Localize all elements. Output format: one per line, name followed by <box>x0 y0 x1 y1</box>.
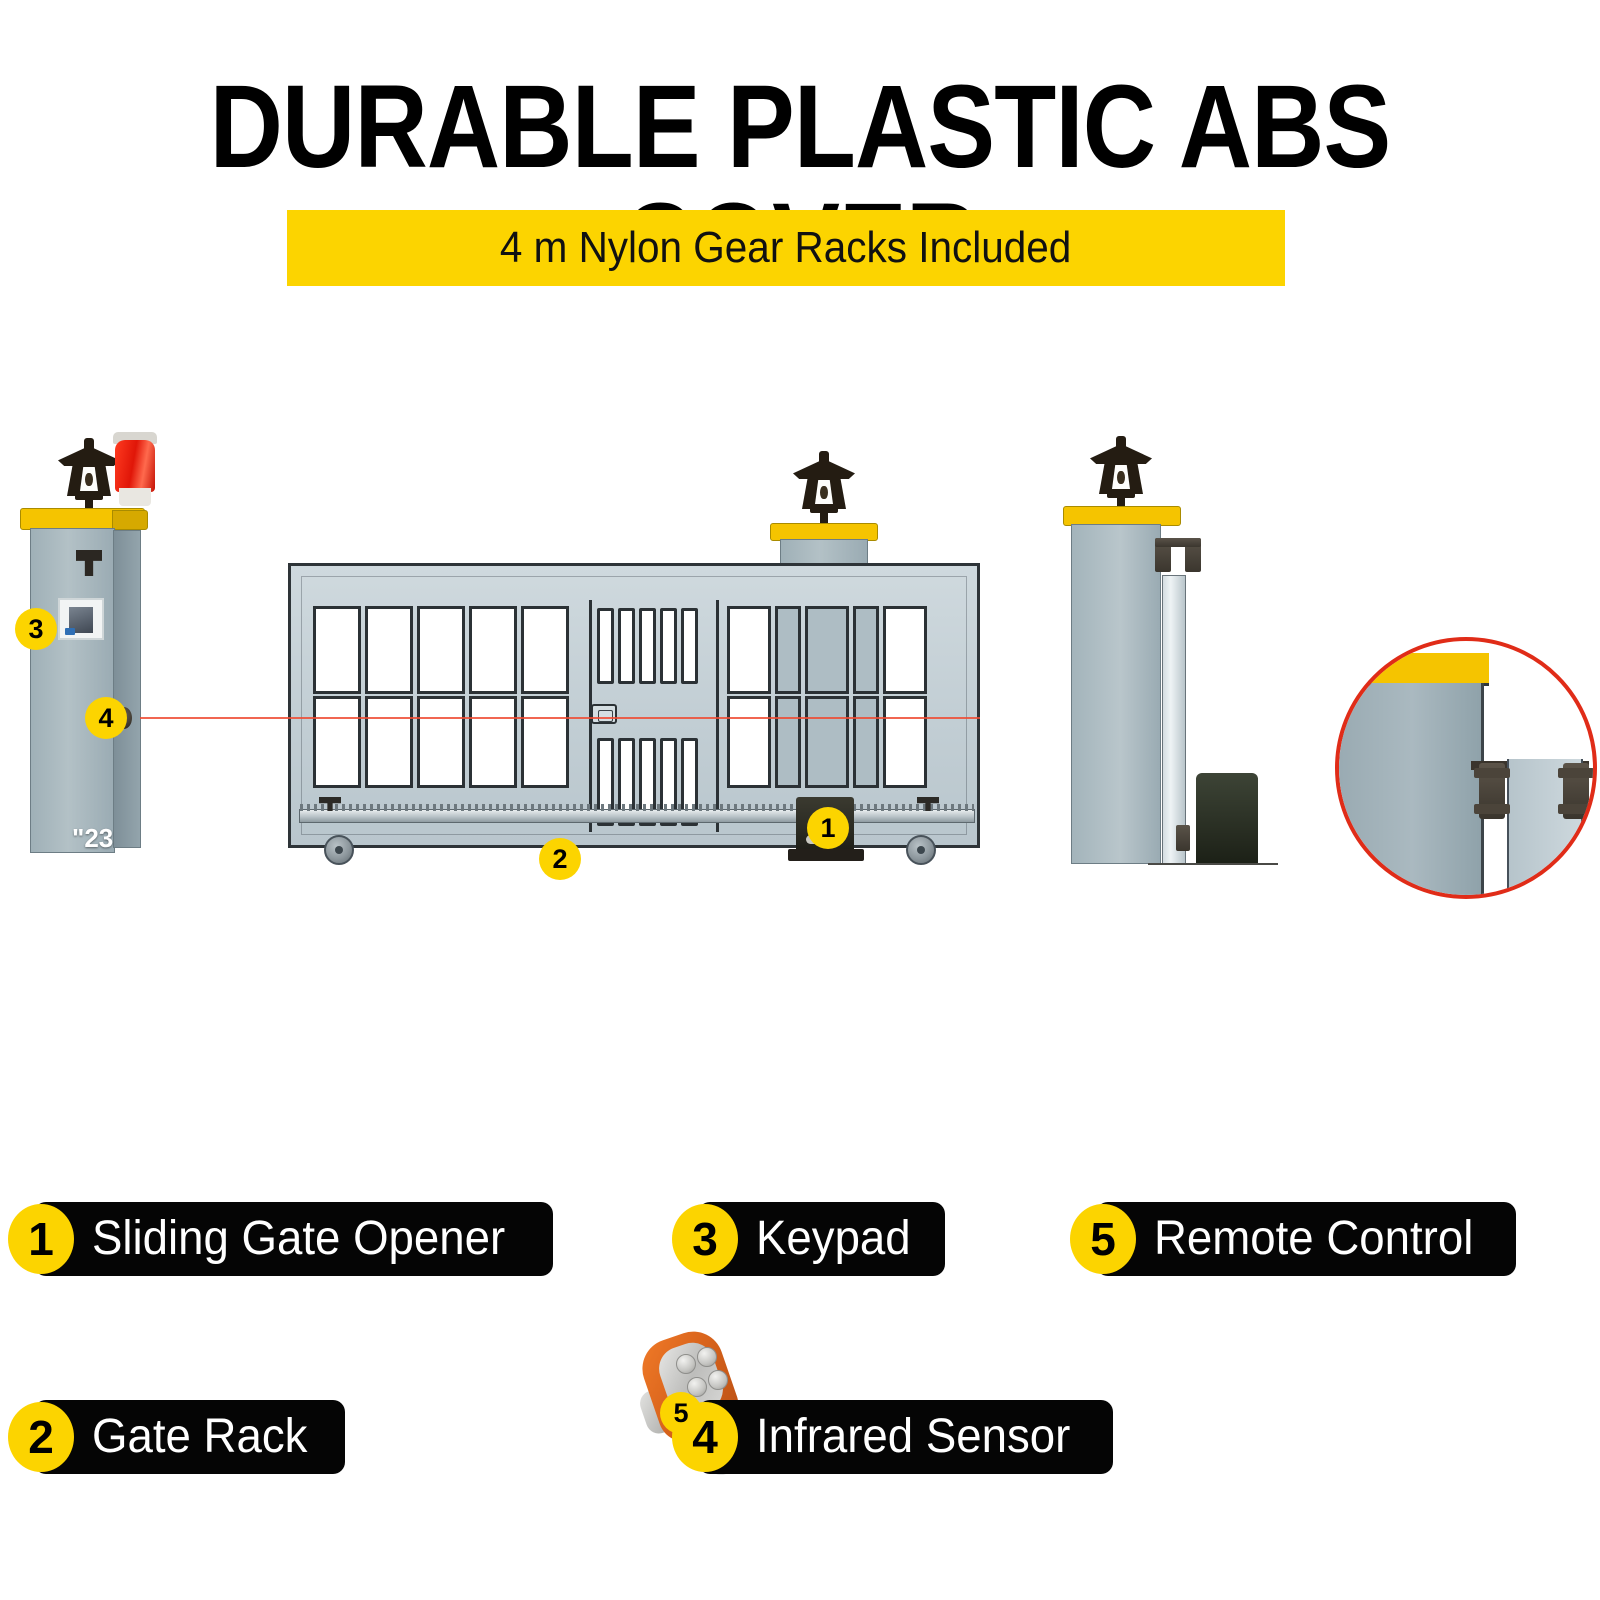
product-illustration: "23 3 4 <box>0 410 1600 1090</box>
callout-badge-2[interactable]: 2 <box>539 838 581 880</box>
legend-number-2: 2 <box>8 1402 74 1472</box>
gate-wheel <box>906 835 936 865</box>
legend: Sliding Gate Opener 1 Keypad 3 Remote Co… <box>0 1180 1600 1510</box>
left-pillar-cap-edge <box>112 510 148 530</box>
left-pillar-body <box>30 528 115 853</box>
callout-badge-5[interactable]: 5 <box>660 1392 702 1434</box>
callout-badge-1[interactable]: 1 <box>807 807 849 849</box>
gate-wheel <box>324 835 354 865</box>
legend-pill-2: Gate Rack <box>34 1400 345 1474</box>
post-bracket-rail <box>1155 538 1201 547</box>
gate-pane <box>365 696 413 788</box>
pillar-measurement-label: "23 <box>72 823 113 854</box>
red-beacon-light-icon <box>113 432 157 510</box>
legend-number-5: 5 <box>1070 1204 1136 1274</box>
legend-label-2: Gate Rack <box>92 1413 307 1461</box>
gate-column-lamp-icon-shape <box>793 443 855 525</box>
gate-pane <box>417 696 465 788</box>
post-bracket-bottom <box>1176 825 1190 851</box>
detail-inset-circle <box>1335 637 1597 899</box>
legend-number-3: 3 <box>672 1204 738 1274</box>
gate-pane <box>883 696 927 788</box>
opener-base <box>788 849 864 861</box>
detail-pillar <box>1335 683 1484 899</box>
legend-label-5: Remote Control <box>1154 1215 1473 1263</box>
gate-pane <box>521 696 569 788</box>
lamp-icon <box>58 430 120 512</box>
sliding-gate-group: 1 2 <box>288 535 980 875</box>
right-pillar-cap <box>1063 506 1181 526</box>
gate-pane <box>313 696 361 788</box>
legend-pill-1: Sliding Gate Opener <box>34 1202 553 1276</box>
keypad[interactable] <box>58 598 104 640</box>
gate-pane <box>313 606 361 694</box>
gate-slat <box>597 608 614 684</box>
legend-label-1: Sliding Gate Opener <box>92 1215 505 1263</box>
callout-badge-3[interactable]: 3 <box>15 608 57 650</box>
gate-pane <box>775 696 801 788</box>
legend-label-4: Infrared Sensor <box>756 1413 1070 1461</box>
gate-slat <box>618 608 635 684</box>
gate-rack-teeth <box>300 804 974 811</box>
gate-pane <box>775 606 801 694</box>
gate-pane <box>805 606 849 694</box>
gate-slat <box>660 608 677 684</box>
right-pillar-lamp-icon <box>1090 428 1152 510</box>
subtitle-banner: 4 m Nylon Gear Racks Included <box>287 210 1285 286</box>
gate-pane <box>469 696 517 788</box>
legend-number-1: 1 <box>8 1204 74 1274</box>
gate-slat <box>639 608 656 684</box>
gate-pane <box>365 606 413 694</box>
legend-label-3: Keypad <box>756 1215 911 1263</box>
gate-leaf <box>288 563 980 848</box>
gate-pane <box>853 696 879 788</box>
gate-pane <box>727 696 771 788</box>
infrared-beam <box>140 717 980 719</box>
gate-pane <box>805 696 849 788</box>
motor-unit <box>1196 773 1258 865</box>
gate-slat <box>681 608 698 684</box>
ground-line <box>1148 863 1278 865</box>
legend-pill-4: Infrared Sensor <box>698 1400 1113 1474</box>
left-pillar-side-face <box>113 530 141 848</box>
gate-pane <box>521 606 569 694</box>
detail-bracket <box>1479 763 1505 819</box>
callout-badge-4[interactable]: 4 <box>85 697 127 739</box>
gate-rack <box>299 809 975 823</box>
gate-pane <box>727 606 771 694</box>
gate-guide-post <box>1162 575 1186 865</box>
gate-handle[interactable] <box>591 704 617 724</box>
gate-pane <box>417 606 465 694</box>
gate-pane <box>883 606 927 694</box>
detail-bracket <box>1563 763 1589 819</box>
right-pillar-body <box>1071 524 1161 864</box>
keypad-indicator <box>65 628 75 635</box>
legend-pill-5: Remote Control <box>1096 1202 1516 1276</box>
gate-pane <box>469 606 517 694</box>
subtitle-banner-text: 4 m Nylon Gear Racks Included <box>500 223 1071 273</box>
detail-pillar-cap <box>1335 653 1489 686</box>
gate-pane <box>853 606 879 694</box>
